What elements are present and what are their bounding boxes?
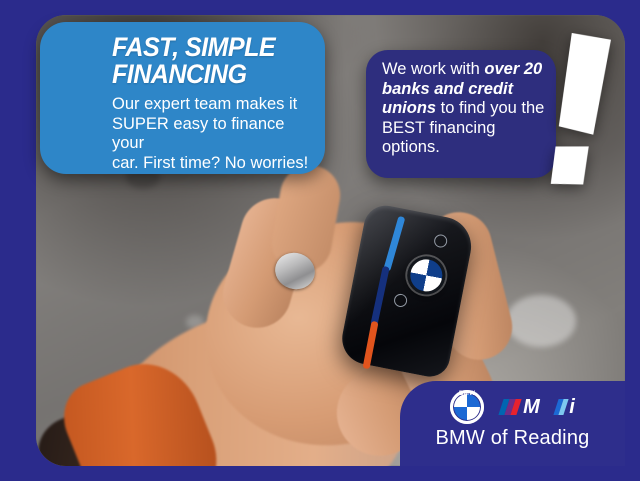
headline-text: FAST, SIMPLE FINANCING [112, 34, 299, 88]
m-stripes [499, 399, 522, 415]
subcopy-text: Our expert team makes it SUPER easy to f… [112, 95, 313, 173]
bmw-roundel-label: BMW [450, 391, 484, 397]
banks-callout-card: We work with over 20 banks and credit un… [366, 50, 556, 178]
frame-right-edge [625, 0, 640, 481]
advertisement-banner: FAST, SIMPLE FINANCING Our expert team m… [0, 0, 640, 481]
i-letter: i [569, 397, 575, 417]
banks-copy: We work with over 20 banks and credit un… [382, 60, 546, 158]
m-letter: M [523, 397, 539, 417]
frame-bottom-edge [0, 466, 640, 481]
brand-logo-row: BMW M i [400, 390, 625, 424]
financing-callout-card: FAST, SIMPLE FINANCING Our expert team m… [40, 22, 325, 174]
dealer-brand-panel: BMW M i BMW of Reading [400, 381, 625, 466]
exclamation-mark-icon [551, 32, 617, 188]
dealer-name: BMW of Reading [400, 427, 625, 450]
bmw-m-logo-icon: M [501, 396, 539, 418]
bmw-roundel-icon: BMW [450, 390, 484, 424]
frame-top-edge [0, 0, 640, 15]
i-stripes [554, 399, 569, 415]
photo-speck [506, 295, 576, 347]
exclamation-dot [551, 144, 590, 186]
bmw-i-logo-icon: i [556, 396, 575, 418]
frame-left-edge [0, 0, 36, 481]
banks-copy-lead: We work with [382, 60, 484, 78]
banks-callout-content: We work with over 20 banks and credit un… [382, 60, 546, 158]
exclamation-stem [558, 33, 611, 136]
financing-callout-content: FAST, SIMPLE FINANCING Our expert team m… [112, 34, 313, 173]
